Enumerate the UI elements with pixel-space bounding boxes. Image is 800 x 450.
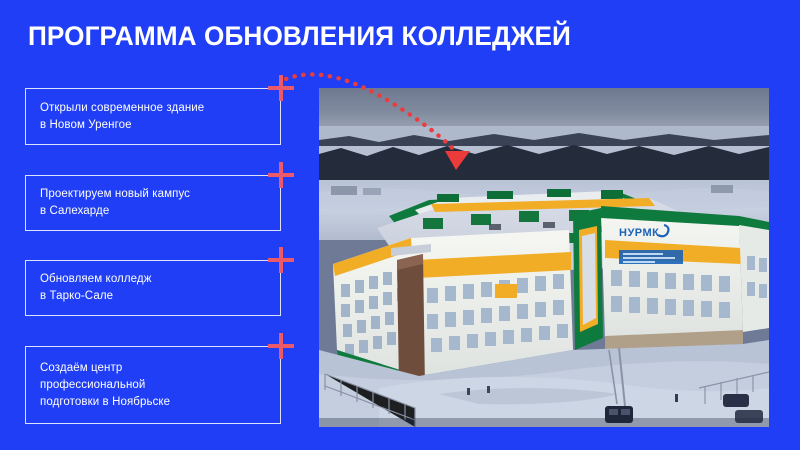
card-salekhard[interactable]: Проектируем новый кампус в Салехарде — [25, 175, 281, 231]
card-noyabrsk-label: Создаём центр профессиональной подготовк… — [26, 360, 184, 411]
photo-illustration: НУРМК — [319, 88, 769, 427]
card-tarko-sale[interactable]: Обновляем колледж в Тарко-Сале — [25, 260, 281, 316]
slide-root: ПРОГРАММА ОБНОВЛЕНИЯ КОЛЛЕДЖЕЙ Открыли с… — [0, 0, 800, 450]
aerial-photo-college: НУРМК — [319, 88, 769, 427]
card-new-urengoy[interactable]: Открыли современное здание в Новом Уренг… — [25, 88, 281, 145]
building-sign-text: НУРМК — [619, 227, 659, 239]
card-salekhard-label: Проектируем новый кампус в Салехарде — [26, 186, 204, 220]
card-new-urengoy-label: Открыли современное здание в Новом Уренг… — [26, 100, 218, 134]
card-noyabrsk[interactable]: Создаём центр профессиональной подготовк… — [25, 346, 281, 424]
card-tarko-sale-label: Обновляем колледж в Тарко-Сале — [26, 271, 166, 305]
bullet-card-list: Открыли современное здание в Новом Уренг… — [0, 0, 300, 450]
